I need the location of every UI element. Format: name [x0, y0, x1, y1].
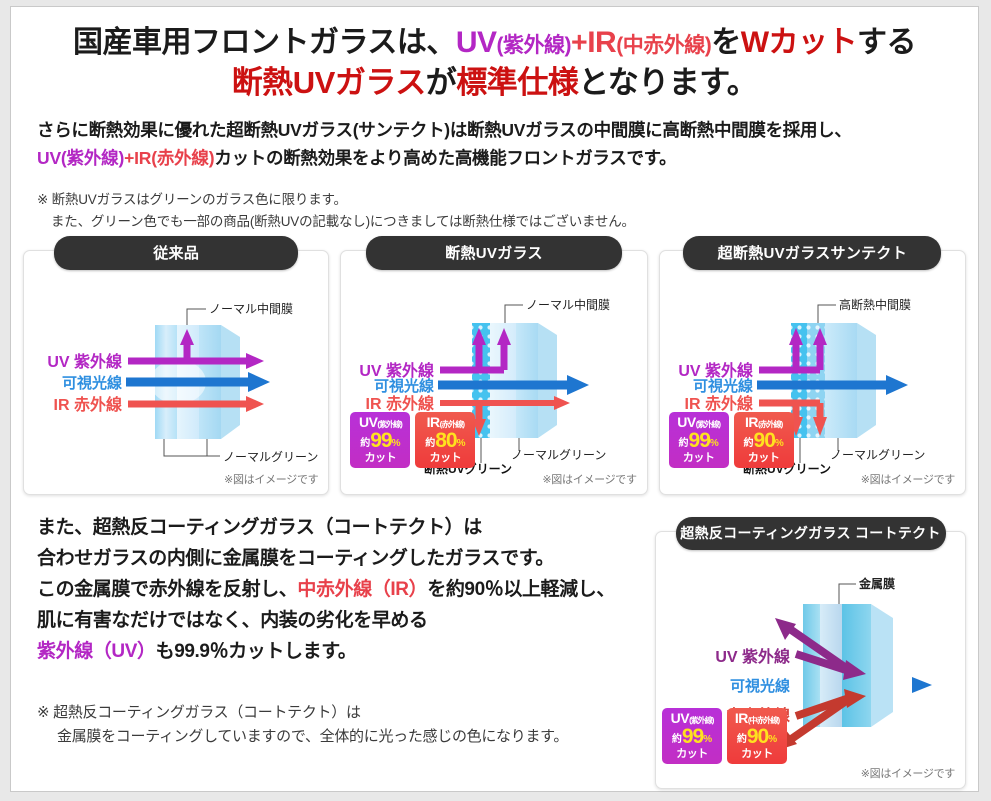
- leader-normal-interlayer: [505, 305, 523, 323]
- badge-uv-value: 99: [370, 429, 391, 452]
- badges-coattect: UV(紫外線) 約99% カット IR(中赤外線) 約90% カット: [662, 708, 787, 764]
- badge-uv-value: 99: [689, 429, 710, 452]
- diagram-conventional: UV 紫外線 可視光線 IR 赤外線 ノーマル中間膜 ノーマルグリーン: [24, 251, 328, 494]
- badge-uv-name: UV: [359, 414, 377, 430]
- desc5-b: も99.9％カットします。: [156, 641, 357, 662]
- badge-ir-title: IR(赤外線): [415, 415, 475, 429]
- heading-seg-wo: を: [711, 26, 741, 59]
- heading-seg-uv: UV: [456, 26, 497, 59]
- label-normal-interlayer: ノーマル中間膜: [526, 297, 610, 312]
- label-uv: UV 紫外線: [47, 352, 122, 371]
- label-visible: 可視光線: [693, 377, 753, 395]
- badge-ir-cut: カット: [734, 453, 794, 464]
- badge-uv-paren: (紫外線): [696, 420, 720, 429]
- label-visible: 可視光線: [62, 374, 122, 392]
- leader-normal-interlayer: [187, 309, 206, 325]
- lead-ir-label: IR(赤外線): [134, 148, 214, 168]
- badge-uv-value-row: 約99%: [669, 430, 729, 451]
- badge-ir-paren: (赤外線): [440, 420, 464, 429]
- heading-seg-1: 国産車用フロントガラスは、: [73, 26, 456, 59]
- badge-ir-cut: カット: [727, 749, 787, 760]
- badge-ir-value: 90: [747, 725, 768, 748]
- desc3-ir: 中赤外線（IR）: [297, 579, 427, 600]
- bottom-note: ※ 超熱反コーティングガラス（コートテクト）は 金属膜をコーティングしていますの…: [37, 701, 657, 749]
- badge-ir-paren: (中赤外線): [748, 716, 779, 725]
- page-frame: 国産車用フロントガラスは、UV(紫外線)+IR(中赤外線)をWカットする 断熱U…: [10, 6, 979, 792]
- coattect-desc-line-2: 合わせガラスの内側に金属膜をコーティングしたガラスです。: [37, 544, 657, 575]
- badge-uv-approx: 約: [672, 734, 682, 745]
- label-visible: 可視光線: [730, 677, 790, 695]
- image-note-4: ※図はイメージです: [861, 765, 955, 781]
- lead-plus: +: [124, 148, 134, 168]
- badge-ir-title: IR(赤外線): [734, 415, 794, 429]
- heading-line-2: 断熱UVガラスが標準仕様となります。: [11, 64, 978, 102]
- desc5-uv: 紫外線（UV）: [37, 641, 156, 662]
- label-metal-film: 金属膜: [858, 576, 895, 591]
- badge-uv-value-row: 約99%: [662, 726, 722, 747]
- badge-uv: UV(紫外線) 約99% カット: [350, 412, 410, 468]
- leader-high-interlayer: [818, 305, 836, 323]
- badge-ir-value: 90: [754, 429, 775, 452]
- leader-normal-green: [164, 439, 220, 456]
- leader-metal-film: [839, 584, 856, 604]
- lead-paragraph: さらに断熱効果に優れた超断熱UVガラス(サンテクト)は断熱UVガラスの中間膜に高…: [37, 117, 978, 172]
- bottom-section: また、超熱反コーティングガラス（コートテクト）は 合わせガラスの内側に金属膜をコ…: [11, 511, 978, 801]
- badge-ir-unit: %: [775, 438, 784, 449]
- desc3-a: この金属膜で赤外線を反射し、: [37, 579, 297, 600]
- main-heading: 国産車用フロントガラスは、UV(紫外線)+IR(中赤外線)をWカットする 断熱U…: [11, 7, 978, 101]
- badge-ir-value: 80: [435, 429, 456, 452]
- heading-seg-plus: +: [571, 27, 587, 59]
- label-normal-green: ノーマルグリーン: [511, 448, 606, 462]
- badge-ir-value-row: 約90%: [734, 430, 794, 451]
- lead-line-1: さらに断熱効果に優れた超断熱UVガラス(サンテクト)は断熱UVガラスの中間膜に高…: [37, 117, 978, 145]
- top-note-line-1: ※ 断熱UVガラスはグリーンのガラス色に限ります。: [37, 192, 347, 207]
- image-note-1: ※図はイメージです: [224, 471, 318, 487]
- label-visible: 可視光線: [374, 377, 434, 395]
- badge-uv-unit: %: [710, 438, 719, 449]
- heading-seg-uv-paren: (紫外線): [497, 34, 572, 57]
- badge-ir-value-row: 約90%: [727, 726, 787, 747]
- badge-ir: IR(中赤外線) 約90% カット: [727, 708, 787, 764]
- badge-ir-title: IR(中赤外線): [727, 711, 787, 725]
- badge-uv-name: UV: [677, 414, 695, 430]
- heading-seg-ir: IR: [587, 26, 616, 59]
- badge-uv: UV(紫外線) 約99% カット: [669, 412, 729, 468]
- badge-ir-paren: (赤外線): [758, 420, 782, 429]
- lead-uv-label: UV(紫外線): [37, 148, 124, 168]
- badge-uv-value-row: 約99%: [350, 430, 410, 451]
- desc3-c: を約90％以上軽減し、: [427, 579, 615, 600]
- label-ir: IR 赤外線: [54, 395, 122, 414]
- top-note-line-2: また、グリーン色でも一部の商品(断熱UVの記載なし)につきましては断熱仕様ではご…: [37, 211, 978, 233]
- image-note-2: ※図はイメージです: [542, 471, 636, 487]
- badge-uv-paren: (紫外線): [689, 716, 713, 725]
- badge-ir: IR(赤外線) 約80% カット: [415, 412, 475, 468]
- badge-ir-name: IR: [745, 414, 758, 430]
- label-normal-interlayer: ノーマル中間膜: [209, 301, 293, 316]
- badges-suntect: UV(紫外線) 約99% カット IR(赤外線) 約90% カット: [669, 412, 794, 468]
- label-high-interlayer: 高断熱中間膜: [839, 297, 911, 312]
- heading-seg-wcut: Wカット: [741, 26, 857, 59]
- badge-uv-approx: 約: [360, 438, 370, 449]
- image-note-3: ※図はイメージです: [861, 471, 955, 487]
- badge-ir-cut: カット: [415, 453, 475, 464]
- label-normal-green: ノーマルグリーン: [223, 450, 318, 464]
- lead-rest: カットの断熱効果をより高めた高機能フロントガラスです。: [214, 148, 676, 168]
- label-uv: UV 紫外線: [715, 647, 790, 666]
- badge-uv-unit: %: [392, 438, 401, 449]
- badge-ir-approx: 約: [744, 438, 754, 449]
- badge-uv-cut: カット: [662, 749, 722, 760]
- panel-coattect: 超熱反コーティングガラス コートテクト: [655, 531, 966, 789]
- badge-ir-name: IR: [427, 414, 440, 430]
- badges-uv-insulated: UV(紫外線) 約99% カット IR(赤外線) 約80% カット: [350, 412, 475, 468]
- coattect-description: また、超熱反コーティングガラス（コートテクト）は 合わせガラスの内側に金属膜をコ…: [37, 513, 657, 668]
- badge-ir-unit: %: [457, 438, 466, 449]
- coattect-desc-line-5: 紫外線（UV）も99.9％カットします。: [37, 637, 657, 668]
- comparison-panels: 従来品: [11, 250, 978, 495]
- badge-ir-value-row: 約80%: [415, 430, 475, 451]
- heading2-seg-standard: 標準仕様: [456, 65, 578, 100]
- heading-seg-ir-paren: (中赤外線): [616, 34, 711, 57]
- badge-ir-approx: 約: [425, 438, 435, 449]
- badge-uv-value: 99: [682, 725, 703, 748]
- badge-uv-unit: %: [703, 734, 712, 745]
- heading-seg-suru: する: [857, 26, 916, 59]
- badge-uv-title: UV(紫外線): [669, 415, 729, 429]
- panel-uv-insulated: 断熱UVガラス: [340, 250, 647, 495]
- coattect-desc-line-3: この金属膜で赤外線を反射し、中赤外線（IR）を約90％以上軽減し、: [37, 575, 657, 606]
- coattect-desc-line-1: また、超熱反コーティングガラス（コートテクト）は: [37, 513, 657, 544]
- heading2-seg-tail: となります。: [578, 65, 757, 100]
- badge-uv: UV(紫外線) 約99% カット: [662, 708, 722, 764]
- badge-uv-title: UV(紫外線): [662, 711, 722, 725]
- badge-uv-paren: (紫外線): [377, 420, 401, 429]
- bottom-note-line-2: 金属膜をコーティングしていますので、全体的に光った感じの色になります。: [37, 725, 657, 749]
- badge-uv-title: UV(紫外線): [350, 415, 410, 429]
- badge-uv-name: UV: [671, 710, 689, 726]
- badge-uv-cut: カット: [669, 453, 729, 464]
- panel-suntect: 超断熱UVガラスサンテクト: [659, 250, 966, 495]
- badge-ir-approx: 約: [737, 734, 747, 745]
- bottom-note-line-1: ※ 超熱反コーティングガラス（コートテクト）は: [37, 704, 361, 721]
- heading-line-1: 国産車用フロントガラスは、UV(紫外線)+IR(中赤外線)をWカットする: [11, 25, 978, 62]
- badge-ir: IR(赤外線) 約90% カット: [734, 412, 794, 468]
- label-ir: IR 赤外線: [366, 394, 434, 413]
- badge-uv-cut: カット: [350, 453, 410, 464]
- top-note: ※ 断熱UVガラスはグリーンのガラス色に限ります。 また、グリーン色でも一部の商…: [37, 189, 978, 233]
- badge-ir-unit: %: [768, 734, 777, 745]
- lead-line-2: UV(紫外線)+IR(赤外線)カットの断熱効果をより高めた高機能フロントガラスで…: [37, 145, 978, 173]
- label-ir: IR 赤外線: [684, 394, 752, 413]
- heading2-seg-glass: 断熱UVガラス: [232, 65, 426, 100]
- panel-conventional: 従来品: [23, 250, 329, 495]
- badge-uv-approx: 約: [679, 438, 689, 449]
- badge-ir-name: IR: [735, 710, 748, 726]
- label-normal-green: ノーマルグリーン: [830, 448, 925, 462]
- coattect-desc-line-4: 肌に有害なだけではなく、内装の劣化を早める: [37, 606, 657, 637]
- heading2-seg-ga: が: [426, 65, 457, 100]
